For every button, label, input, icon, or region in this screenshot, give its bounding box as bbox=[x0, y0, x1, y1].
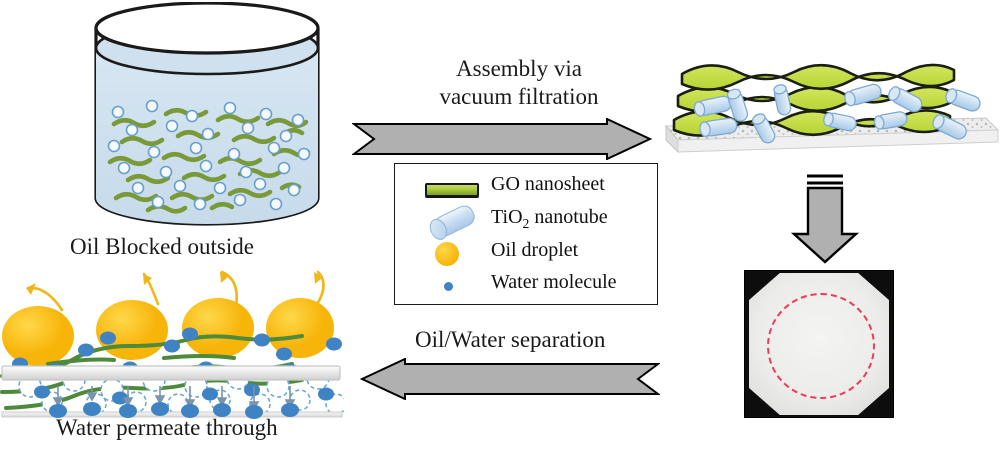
vacuum-filtration-down-arrow bbox=[790, 172, 860, 269]
legend-item-oil-droplet: Oil droplet bbox=[395, 238, 657, 270]
oil-blocked-caption: Oil Blocked outside bbox=[70, 234, 254, 260]
membrane-support-bar bbox=[2, 366, 340, 380]
assembly-label-line1: Assembly via bbox=[404, 55, 634, 83]
legend-box: GO nanosheet TiO2 nanotube Oil droplet W… bbox=[394, 163, 658, 305]
layered-membrane-schematic bbox=[660, 52, 1000, 170]
membrane-annotation-circle bbox=[767, 293, 875, 399]
assembly-label-line2: vacuum filtration bbox=[404, 83, 634, 111]
oil-droplet bbox=[266, 298, 334, 358]
legend-label-water-molecule: Water molecule bbox=[491, 271, 617, 294]
tio2-nanotube-icon bbox=[415, 205, 485, 237]
legend-item-tio2-nanotube: TiO2 nanotube bbox=[395, 205, 657, 237]
oil-droplet-icon bbox=[415, 238, 485, 270]
oil-droplet bbox=[96, 300, 168, 360]
go-nanosheet-icon bbox=[415, 172, 485, 204]
oil-droplet bbox=[2, 306, 74, 366]
separation-arrow bbox=[360, 358, 660, 405]
legend-item-water-molecule: Water molecule bbox=[395, 270, 657, 302]
water-permeate-caption: Water permeate through bbox=[56, 415, 278, 441]
water-molecule-icon bbox=[415, 270, 485, 302]
assembly-arrow bbox=[352, 118, 652, 165]
separation-arrow-label: Oil/Water separation bbox=[415, 327, 605, 353]
membrane-photograph bbox=[744, 270, 894, 418]
assembly-arrow-label: Assembly via vacuum filtration bbox=[404, 55, 634, 111]
legend-label-tio2-nanotube: TiO2 nanotube bbox=[491, 206, 608, 232]
legend-label-oil-droplet: Oil droplet bbox=[491, 239, 578, 262]
dispersion-beaker bbox=[88, 2, 326, 228]
figure-canvas: Assembly via vacuum filtration GO nanosh… bbox=[0, 0, 1000, 444]
legend-label-go-nanosheet: GO nanosheet bbox=[491, 173, 605, 196]
legend-item-go-nanosheet: GO nanosheet bbox=[395, 172, 657, 204]
